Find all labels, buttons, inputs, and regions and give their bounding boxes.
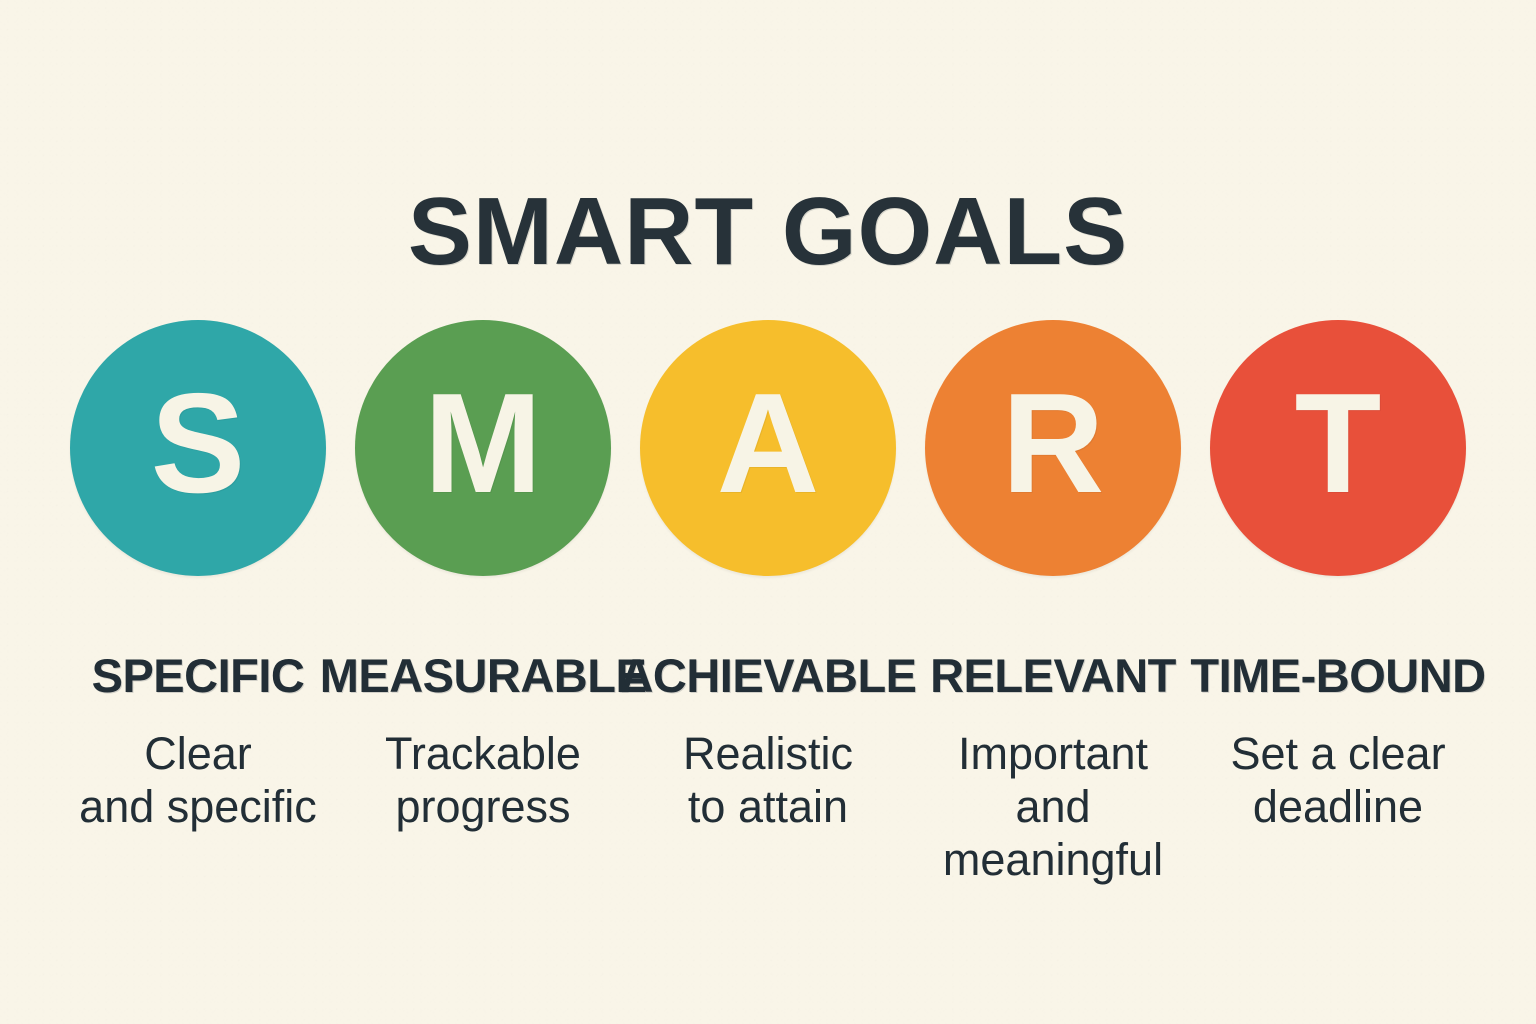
letter-circle-r: R (925, 320, 1181, 576)
pillar-relevant: R RELEVANT Important and meaningful (919, 320, 1187, 886)
letter-circle-m: M (355, 320, 611, 576)
letter-circle-t: T (1210, 320, 1466, 576)
pillar-title-time-bound: TIME-BOUND (1190, 652, 1485, 699)
pillar-title-specific: SPECIFIC (92, 652, 305, 699)
pillar-description-measurable: Trackable progress (385, 727, 581, 833)
pillars-row: S SPECIFIC Clear and specific M MEASURAB… (64, 320, 1472, 886)
letter-circle-s: S (70, 320, 326, 576)
pillar-achievable: A ACHIEVABLE Realistic to attain (634, 320, 902, 833)
pillar-title-measurable: MEASURABLE (320, 652, 647, 699)
circle-letter-text: S (151, 373, 246, 515)
pillar-description-time-bound: Set a clear deadline (1230, 727, 1445, 833)
smart-goals-infographic: SMART GOALS S SPECIFIC Clear and specifi… (0, 0, 1536, 1024)
pillar-time-bound: T TIME-BOUND Set a clear deadline (1204, 320, 1472, 833)
pillar-title-relevant: RELEVANT (930, 652, 1176, 699)
circle-letter-text: T (1295, 373, 1382, 515)
letter-circle-a: A (640, 320, 896, 576)
circle-letter-text: R (1002, 373, 1105, 515)
pillar-description-achievable: Realistic to attain (683, 727, 853, 833)
circle-letter-text: A (717, 373, 820, 515)
pillar-measurable: M MEASURABLE Trackable progress (349, 320, 617, 833)
pillar-specific: S SPECIFIC Clear and specific (64, 320, 332, 833)
pillar-description-specific: Clear and specific (79, 727, 317, 833)
pillar-title-achievable: ACHIEVABLE (619, 652, 916, 699)
pillar-description-relevant: Important and meaningful (943, 727, 1163, 886)
page-title: SMART GOALS (0, 182, 1536, 283)
circle-letter-text: M (424, 373, 542, 515)
